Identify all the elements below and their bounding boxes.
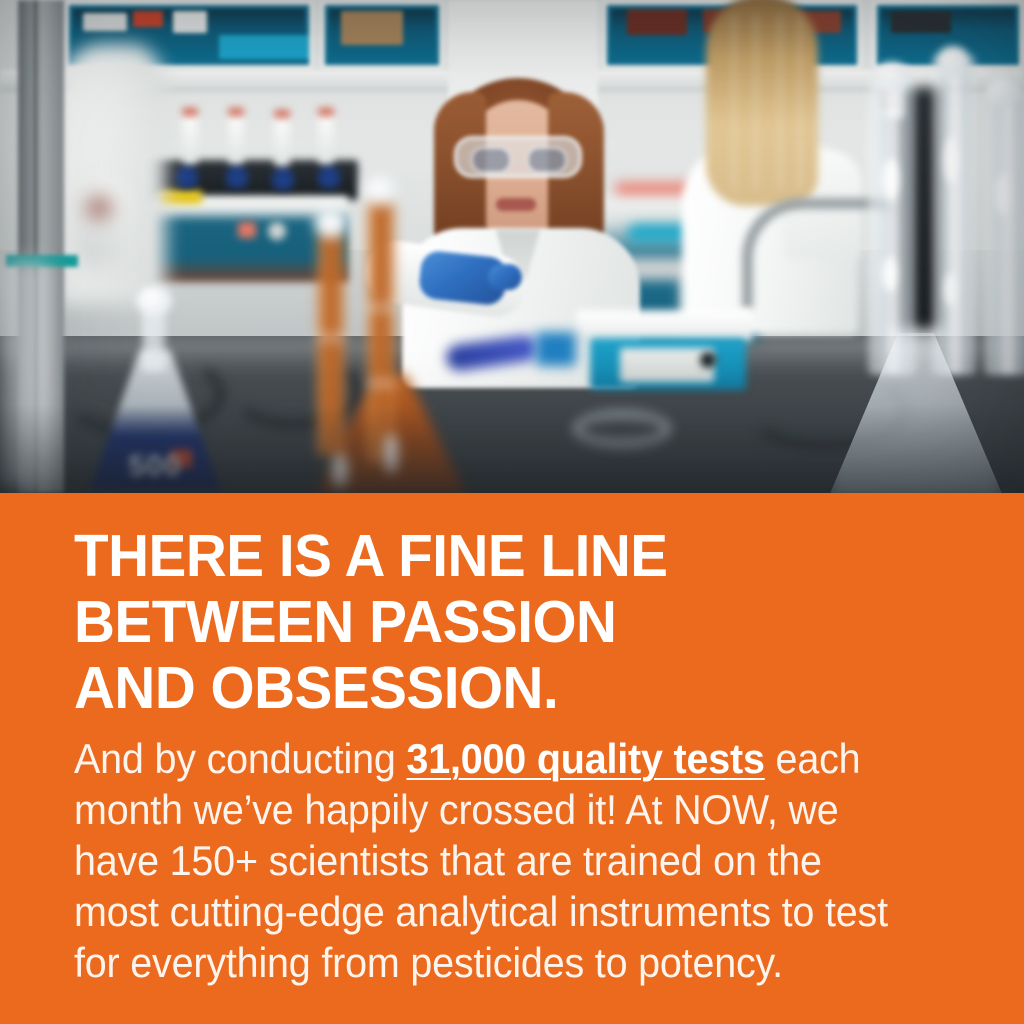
- vial: [274, 114, 290, 166]
- body-part-1: And by conducting: [74, 735, 406, 782]
- cyan-equipment: [536, 332, 576, 366]
- flask-stopper: [314, 208, 348, 238]
- orange-text-panel: THERE IS A FINE LINE BETWEEN PASSION AND…: [0, 493, 1024, 1024]
- headline: THERE IS A FINE LINE BETWEEN PASSION AND…: [74, 523, 938, 721]
- cabinet-item: [341, 11, 403, 45]
- instrument-indicator: [238, 222, 256, 238]
- hair-strand: [754, 14, 758, 189]
- graduation-ring: [316, 334, 346, 341]
- person-left-arm: [74, 180, 128, 266]
- graduation-ring: [366, 304, 396, 311]
- graduation-ring: [366, 380, 396, 387]
- glass-highlight: [944, 272, 958, 306]
- sample-tube: [272, 168, 294, 190]
- sample-tube: [176, 166, 198, 188]
- vial-cap: [228, 108, 244, 116]
- glass-cylinder: [932, 55, 976, 375]
- cylinder-stopper: [986, 76, 1022, 106]
- vial-cap: [182, 108, 198, 116]
- lab-photo: 500: [0, 0, 1024, 493]
- cabinet-item: [83, 13, 127, 31]
- hair-strand: [798, 14, 802, 189]
- person-left-hand: [86, 196, 112, 220]
- hair-strand: [732, 14, 736, 189]
- glass-cylinder: [984, 89, 1024, 375]
- scientist-hair: [706, 0, 818, 206]
- cabinet-item: [627, 9, 687, 35]
- flask-stopper: [136, 286, 172, 316]
- glass-highlight: [996, 172, 1012, 216]
- hair-strand: [778, 14, 782, 189]
- cabinet-item: [133, 11, 163, 27]
- vial: [228, 112, 244, 164]
- cylinder-stopper: [936, 46, 970, 76]
- emphasis-quality-tests: 31,000 quality tests: [406, 735, 764, 782]
- glass-cylinder: [868, 75, 916, 375]
- goggle-lens-left: [471, 147, 511, 173]
- depth-of-field-gradient: [0, 404, 1024, 493]
- balance-display: [620, 348, 714, 382]
- cabinet-item: [891, 11, 951, 33]
- scientist-mouth: [496, 198, 536, 211]
- cabinet-item: [219, 35, 309, 59]
- glass-highlight: [882, 158, 900, 200]
- balance-knob: [700, 352, 716, 368]
- glass-highlight: [944, 136, 960, 184]
- cylinder-stopper: [874, 62, 910, 92]
- flask-neck: [142, 310, 166, 372]
- glass-highlight: [882, 256, 898, 292]
- social-graphic-canvas: 500: [0, 0, 1024, 1024]
- vial: [318, 112, 334, 164]
- vial-cap: [274, 110, 290, 118]
- instrument-knob: [268, 222, 286, 240]
- goggle-lens-right: [527, 147, 567, 173]
- nitrile-glove-thumb: [488, 264, 522, 290]
- vial: [182, 112, 198, 164]
- cabinet-center-left: [320, 0, 444, 70]
- flask-stopper: [364, 176, 398, 206]
- cabinet-item: [173, 11, 207, 33]
- body-paragraph: And by conducting 31,000 quality tests e…: [74, 733, 888, 988]
- sample-tube: [226, 166, 248, 188]
- vial-cap: [318, 108, 334, 116]
- safety-goggles: [454, 136, 582, 178]
